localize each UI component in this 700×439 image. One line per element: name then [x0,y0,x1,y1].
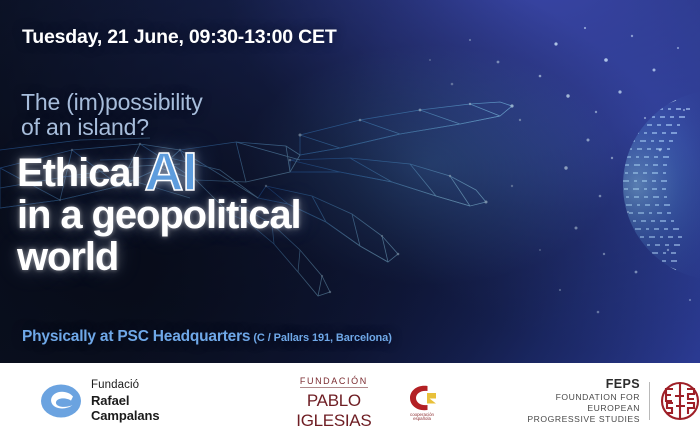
venue-line: Physically at PSC Headquarters(C / Palla… [22,328,392,346]
e-oval-icon [40,383,82,419]
cooperacion-espanola-icon: cooperación española [405,381,439,421]
headline-word-ai: AI [140,142,196,202]
headline-line-3: world [17,236,301,278]
feps-acronym: FEPS [507,377,640,391]
logo-fundacio-rafael-campalans: Fundació Rafael Campalans [40,363,196,439]
campalans-line-1: Fundació [91,379,196,392]
feps-fullname-line-2: PROGRESSIVE STUDIES [507,414,640,425]
logo-fundacion-pablo-iglesias: FUNDACIÓN PABLO IGLESIAS cooperación esp… [270,363,439,439]
feps-fullname: FOUNDATION FOR EUROPEAN PROGRESSIVE STUD… [507,392,640,426]
pablo-iglesias-text: FUNDACIÓN PABLO IGLESIAS [270,371,398,431]
logo-feps: FEPS FOUNDATION FOR EUROPEAN PROGRESSIVE… [507,363,700,439]
pablo-iglesias-line-2: PABLO IGLESIAS [270,391,398,431]
kicker-line-2: of an island? [21,115,203,140]
poster-headline: EthicalAI in a geopolitical world [17,147,301,278]
pablo-iglesias-line-1: FUNDACIÓN [300,376,368,388]
feps-text: FEPS FOUNDATION FOR EUROPEAN PROGRESSIVE… [507,377,640,426]
event-poster: Tuesday, 21 June, 09:30-13:00 CET The (i… [0,0,700,439]
venue-main-text: Physically at PSC Headquarters [22,328,250,345]
feps-emblem-icon [660,381,700,421]
headline-line-1: EthicalAI [17,147,301,194]
event-date-time: Tuesday, 21 June, 09:30-13:00 CET [22,26,337,49]
feps-fullname-line-1: FOUNDATION FOR EUROPEAN [507,392,640,414]
headline-word-ethical: Ethical [17,151,140,195]
venue-address-text: (C / Pallars 191, Barcelona) [253,332,391,344]
campalans-text: Fundació Rafael Campalans [91,379,196,422]
sponsor-logo-bar: Fundació Rafael Campalans FUNDACIÓN PABL… [0,363,700,439]
coop-caption-2: española [413,416,431,421]
hero-background: Tuesday, 21 June, 09:30-13:00 CET The (i… [0,0,700,363]
kicker-line-1: The (im)possibility [21,89,203,115]
campalans-line-2: Rafael Campalans [91,393,196,423]
poster-kicker: The (im)possibility of an island? [21,90,203,140]
feps-divider [649,382,650,420]
poster-text-layer: Tuesday, 21 June, 09:30-13:00 CET The (i… [0,0,700,363]
